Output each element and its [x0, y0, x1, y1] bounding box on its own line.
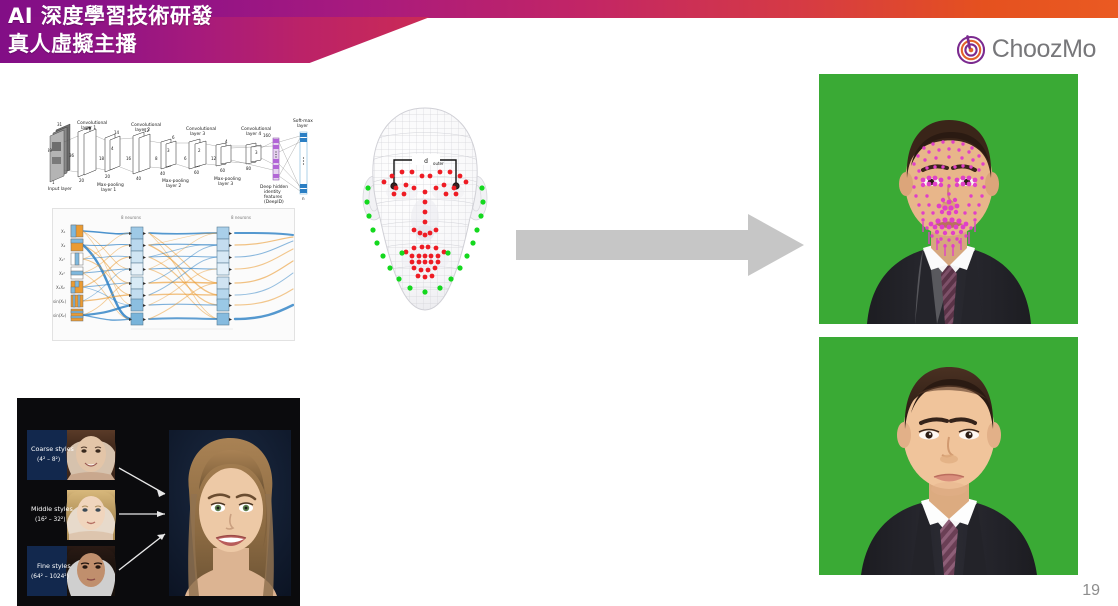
svg-text:60: 60	[220, 168, 226, 173]
portrait-with-landmarks: Source portrait on green screen with den…	[819, 74, 1078, 324]
svg-text:12: 12	[211, 156, 217, 161]
svg-text:sin(X₂): sin(X₂)	[53, 313, 67, 318]
head-mesh-landmark-figure: 3D head mesh with facial landmark points	[332, 100, 518, 328]
svg-text:X₂²: X₂²	[59, 271, 65, 276]
svg-text:layer 2: layer 2	[166, 183, 181, 189]
coarse-source-thumb	[66, 430, 116, 480]
svg-text:X₂: X₂	[61, 243, 66, 248]
svg-text:Input layer: Input layer	[48, 186, 72, 192]
process-flow-arrow	[516, 212, 806, 278]
svg-text:layer 3: layer 3	[218, 181, 233, 187]
svg-text:layer 1: layer 1	[101, 187, 116, 193]
svg-text:layer 4: layer 4	[246, 131, 261, 137]
svg-text:36: 36	[69, 153, 75, 158]
svg-text:31: 31	[57, 122, 63, 127]
svg-text:20: 20	[105, 174, 111, 179]
svg-text:d: d	[424, 158, 428, 165]
coarse-range: (4² – 8²)	[37, 456, 60, 463]
fine-range: (64² – 1024²)	[31, 573, 69, 580]
choozmo-spiral-icon	[956, 34, 986, 64]
fine-label: Fine styles	[37, 562, 71, 570]
svg-text:X₁²: X₁²	[59, 257, 65, 262]
svg-text:28: 28	[86, 126, 92, 131]
middle-label: Middle styles	[31, 505, 73, 513]
svg-text:14: 14	[114, 130, 120, 135]
slide-title: AI 深度學習技術研發 真人虛擬主播	[8, 2, 428, 58]
presentation-slide: AI 深度學習技術研發 真人虛擬主播 ChoozMo DeepID convol…	[0, 0, 1118, 606]
svg-text:18: 18	[99, 156, 105, 161]
coarse-label: Coarse styles	[31, 445, 75, 453]
fine-source-thumb	[66, 546, 116, 596]
svg-text:80: 80	[246, 166, 252, 171]
svg-text:20: 20	[79, 178, 85, 183]
deepid-cnn-architecture-figure: DeepID convolutional neural network arch…	[48, 112, 338, 204]
svg-text:6: 6	[184, 156, 187, 161]
svg-text:8: 8	[155, 156, 158, 161]
svg-text:outer: outer	[433, 161, 444, 166]
svg-text:40: 40	[136, 176, 142, 181]
svg-text:1: 1	[52, 180, 55, 185]
svg-text:X₁X₂: X₁X₂	[56, 285, 65, 290]
page-number: 19	[1082, 582, 1100, 600]
middle-range: (16² – 32²)	[35, 516, 66, 523]
choozmo-logo: ChoozMo	[956, 34, 1096, 64]
svg-text:layer 3: layer 3	[190, 131, 205, 137]
svg-text:12: 12	[144, 128, 150, 133]
svg-text:40: 40	[160, 171, 166, 176]
middle-source-thumb	[66, 490, 116, 540]
svg-text:16: 16	[126, 156, 132, 161]
portrait-generated-clean: Generated virtual anchor portrait on gre…	[819, 337, 1078, 575]
stylegan-result-face	[169, 430, 291, 596]
svg-text:sin(X₁): sin(X₁)	[53, 299, 67, 304]
neural-network-figure: Fully connected neural network with weig…	[52, 208, 295, 341]
stylegan-style-mixing-figure: StyleGAN style mixing at coarse, middle …	[17, 398, 300, 606]
svg-text:layer: layer	[297, 123, 308, 129]
svg-text:160: 160	[263, 133, 271, 138]
svg-text:(DeepID): (DeepID)	[264, 199, 284, 204]
svg-text:n: n	[302, 196, 305, 201]
svg-text:6: 6	[172, 135, 175, 140]
svg-text:39: 39	[48, 148, 53, 153]
svg-text:8 neurons: 8 neurons	[121, 215, 141, 220]
choozmo-wordmark: ChoozMo	[992, 35, 1096, 64]
svg-text:8 neurons: 8 neurons	[231, 215, 251, 220]
svg-text:X₁: X₁	[61, 229, 66, 234]
svg-text:60: 60	[194, 170, 200, 175]
svg-text:4: 4	[225, 139, 228, 144]
